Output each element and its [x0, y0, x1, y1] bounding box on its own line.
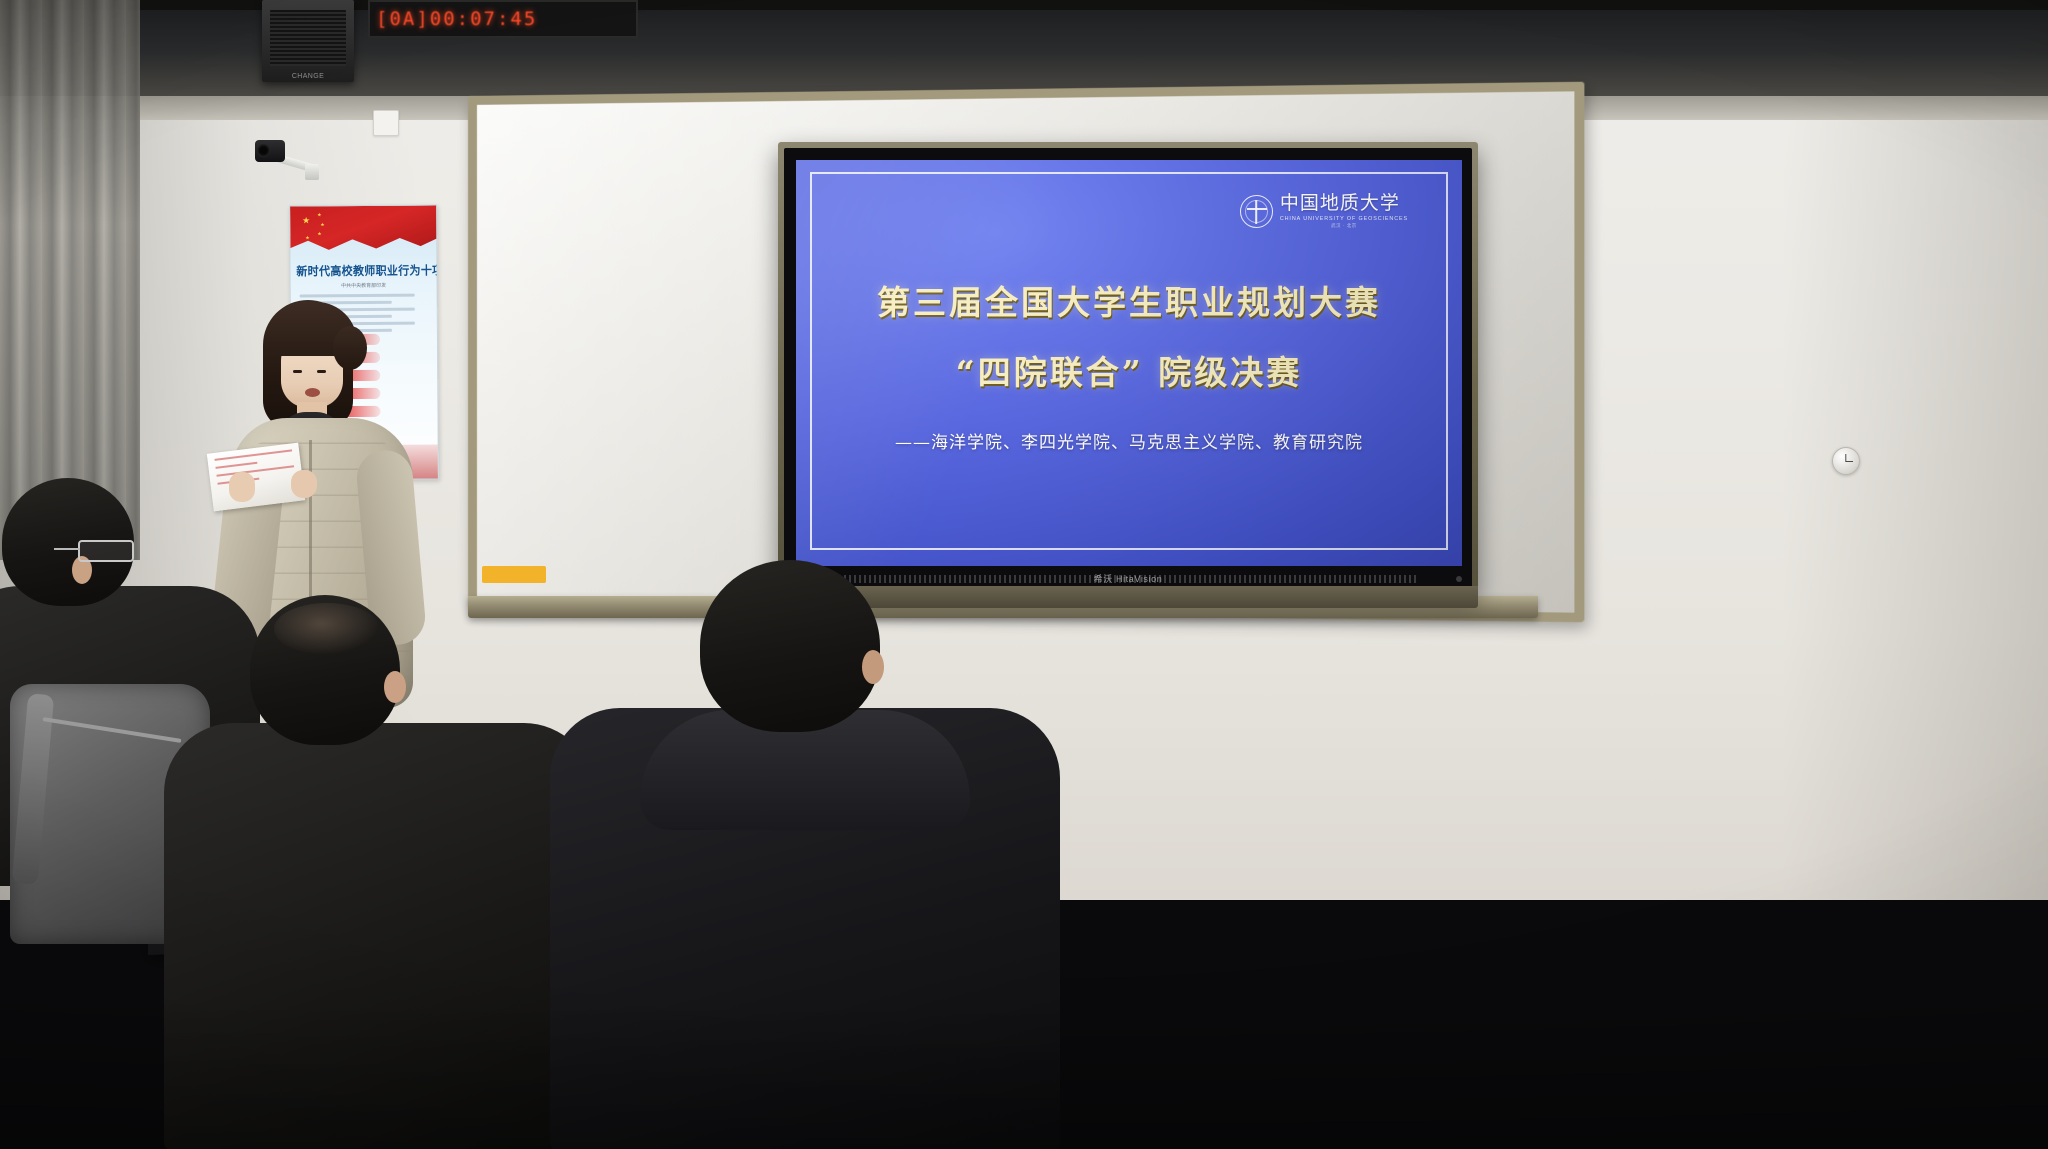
- audience-member: [540, 560, 1060, 1149]
- slide-title-line1: 第三届全国大学生职业规划大赛: [796, 278, 1462, 328]
- led-scroll-banner: [0A]00:07:45: [368, 0, 638, 38]
- flag-star-icon: ★: [320, 221, 325, 230]
- audience-head: [700, 560, 880, 732]
- crest-inner-ring: [1245, 200, 1268, 223]
- speaker-brand-label: CHANGE: [262, 73, 354, 80]
- university-campus-label: 武汉 · 北京: [1280, 223, 1408, 229]
- wall-shadow-right: [1668, 0, 2048, 900]
- speaker-grille-icon: [270, 10, 346, 66]
- university-logo: 中国地质大学 CHINA UNIVERSITY OF GEOSCIENCES 武…: [1240, 194, 1408, 229]
- presenter-eye: [317, 370, 326, 373]
- smart-interactive-display[interactable]: 中国地质大学 CHINA UNIVERSITY OF GEOSCIENCES 武…: [778, 142, 1478, 594]
- window-curtain: [0, 0, 140, 560]
- display-bezel: 中国地质大学 CHINA UNIVERSITY OF GEOSCIENCES 武…: [784, 148, 1472, 588]
- presentation-slide: 中国地质大学 CHINA UNIVERSITY OF GEOSCIENCES 武…: [796, 160, 1462, 566]
- university-name-zh: 中国地质大学: [1280, 194, 1408, 214]
- wall-clock: [1832, 447, 1860, 475]
- university-logo-text: 中国地质大学 CHINA UNIVERSITY OF GEOSCIENCES 武…: [1280, 194, 1408, 229]
- audience-shoulders: [164, 723, 594, 1149]
- presenter-eye: [293, 370, 302, 373]
- display-power-led-icon: [1456, 576, 1462, 582]
- flag-star-icon: ★: [305, 234, 310, 243]
- audience-ear: [862, 650, 884, 684]
- camera-body: [255, 140, 285, 162]
- presenter-mouth: [305, 388, 320, 397]
- camera-lens-icon: [257, 144, 270, 157]
- presenter-hair-bun: [333, 326, 367, 370]
- display-brand-label: 希沃 HitaVision: [1094, 572, 1163, 585]
- audience-member: [178, 595, 578, 1149]
- university-name-en: CHINA UNIVERSITY OF GEOSCIENCES: [1280, 216, 1408, 222]
- slide-title-line2: “四院联合” 院级决赛: [796, 346, 1462, 394]
- university-crest-icon: [1240, 195, 1273, 228]
- glasses-icon: [78, 540, 134, 562]
- camera-wall-mount: [305, 164, 319, 180]
- led-banner-text: [0A]00:07:45: [370, 2, 636, 36]
- audience-head-highlight: [274, 603, 380, 655]
- flag-star-icon: ★: [317, 211, 322, 220]
- whiteboard-sticker: [482, 566, 546, 583]
- audience-ear: [384, 671, 406, 703]
- flag-star-icon: ★: [317, 230, 322, 239]
- classroom-scene: [0A]00:07:45 CHANGE ★ ★ ★ ★ ★ 新时代高校教师职业行…: [0, 0, 2048, 1149]
- chinese-flag-graphic: [290, 205, 438, 258]
- light-switch[interactable]: [373, 110, 399, 136]
- ceiling-speaker: CHANGE: [262, 0, 354, 82]
- poster-title: 新时代高校教师职业行为十项准则: [296, 262, 430, 280]
- slide-title-block: 第三届全国大学生职业规划大赛 “四院联合” 院级决赛: [796, 278, 1462, 394]
- poster-subtitle: 中共中央教育部印发: [291, 281, 437, 289]
- security-camera: [255, 140, 311, 180]
- flag-star-icon: ★: [302, 216, 310, 225]
- slide-departments-line: ——海洋学院、李四光学院、马克思主义学院、教育研究院: [796, 428, 1462, 453]
- presenter-right-hand: [291, 470, 317, 498]
